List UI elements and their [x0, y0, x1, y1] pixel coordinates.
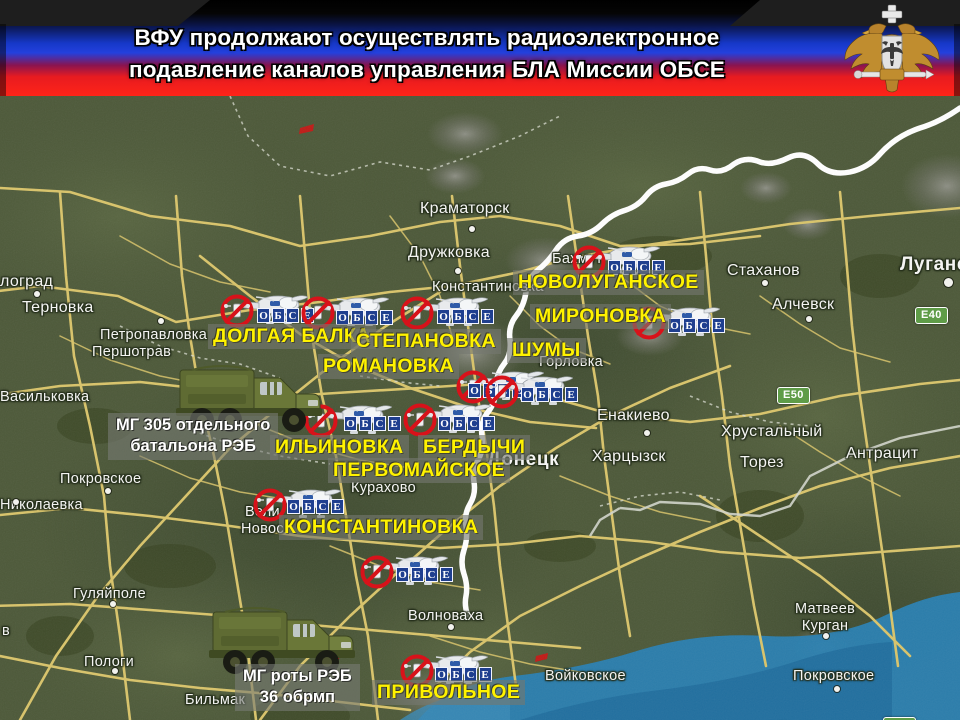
osce-chip-letter: Е: [331, 499, 344, 514]
city-label: Пологи: [84, 654, 134, 670]
city-label: Луганск: [900, 254, 960, 276]
osce-chip-letter: Е: [712, 318, 725, 333]
osce-logo-chip: ОБСЕ: [287, 499, 344, 514]
osce-chip-letter: Б: [302, 499, 315, 514]
osce-chip-letter: Б: [453, 416, 466, 431]
russian-national-guard-eagle-emblem: [838, 2, 946, 96]
highlighted-settlement-label: НОВОЛУГАНСКОЕ: [513, 270, 704, 295]
city-marker-dot: [34, 291, 40, 297]
highlighted-settlement-label: МИРОНОВКА: [530, 304, 671, 329]
city-label: Терновка: [22, 299, 94, 317]
osce-logo-chip: ОБСЕ: [668, 318, 725, 333]
osce-chip-letter: Б: [452, 309, 465, 324]
osce-chip-letter: С: [425, 567, 438, 582]
city-label: Краматорск: [420, 200, 510, 218]
city-label: Петропавловка: [100, 327, 207, 343]
osce-logo-chip: ОБСЕ: [438, 416, 495, 431]
osce-logo-chip: ОБСЕ: [521, 387, 578, 402]
osce-chip-letter: О: [344, 416, 357, 431]
road-shield-e50: E50: [777, 387, 810, 404]
osce-chip-letter: Б: [359, 416, 372, 431]
highlighted-settlement-label: РОМАНОВКА: [318, 354, 459, 379]
city-label: Покровское: [60, 471, 141, 487]
osce-chip-letter: О: [287, 499, 300, 514]
city-label: Харцызск: [592, 448, 666, 466]
osce-chip-letter: Е: [440, 567, 453, 582]
banner-title: ВФУ продолжают осуществлять радиоэлектро…: [42, 22, 812, 86]
city-label: Алчевск: [772, 296, 834, 314]
osce-chip-letter: Е: [482, 416, 495, 431]
osce-chip-letter: Б: [411, 567, 424, 582]
city-marker-dot: [13, 499, 19, 505]
highlighted-settlement-label: СТЕПАНОВКА: [351, 329, 501, 354]
highlighted-settlement-label: КОНСТАНТИНОВКА: [279, 515, 483, 540]
city-label: Антрацит: [846, 445, 918, 463]
highlighted-settlement-label: ШУМЫ: [507, 338, 586, 363]
osce-logo-chip: ОБСЕ: [336, 310, 393, 325]
osce-chip-letter: Е: [380, 310, 393, 325]
city-marker-dot: [105, 488, 111, 494]
city-label: Першотрав: [92, 344, 171, 360]
osce-chip-letter: О: [396, 567, 409, 582]
city-marker-dot: [112, 668, 118, 674]
osce-chip-letter: О: [468, 383, 481, 398]
city-marker-dot: [158, 318, 164, 324]
city-marker-dot: [823, 633, 829, 639]
ew-truck-upper-label: МГ 305 отдельного батальона РЭБ: [108, 413, 278, 460]
osce-chip-letter: С: [466, 309, 479, 324]
osce-chip-letter: С: [373, 416, 386, 431]
osce-chip-letter: С: [697, 318, 710, 333]
osce-chip-letter: С: [467, 416, 480, 431]
highlighted-settlement-label: ПЕРВОМАЙСКОЕ: [328, 458, 510, 483]
ew-truck-lower-label: МГ роты РЭБ 36 обрмп: [235, 664, 360, 711]
osce-chip-letter: С: [550, 387, 563, 402]
osce-logo-chip: ОБСЕ: [396, 567, 453, 582]
city-marker-dot: [762, 280, 768, 286]
highlighted-settlement-label: ПРИВОЛЬНОЕ: [372, 680, 525, 705]
osce-logo-chip: ОБСЕ: [437, 309, 494, 324]
city-marker-dot: [455, 268, 461, 274]
banner-edge-right: [954, 24, 960, 96]
osce-logo-chip: ОБСЕ: [344, 416, 401, 431]
osce-chip-letter: О: [336, 310, 349, 325]
city-label: Енакиево: [597, 407, 670, 425]
city-marker-dot: [944, 278, 953, 287]
osce-chip-letter: С: [365, 310, 378, 325]
city-marker-dot: [448, 624, 454, 630]
city-label: Хрустальный: [721, 423, 823, 441]
highlighted-settlement-label: ИЛЬИНОВКА: [270, 435, 409, 460]
road-shield-e40: E40: [915, 307, 948, 324]
osce-chip-letter: О: [257, 308, 270, 323]
osce-chip-letter: С: [286, 308, 299, 323]
highlighted-settlement-label: БЕРДЫЧИ: [418, 435, 530, 460]
satellite-map[interactable]: КраматорскДружковкаКонстантиновкаБахмутГ…: [0, 96, 960, 720]
city-label: Волноваха: [408, 608, 483, 624]
osce-chip-letter: О: [521, 387, 534, 402]
osce-chip-letter: Е: [481, 309, 494, 324]
header-banner: ВФУ продолжают осуществлять радиоэлектро…: [0, 0, 960, 96]
city-marker-dot: [806, 316, 812, 322]
city-label: Николаевка: [0, 497, 83, 513]
city-label: Войковское: [545, 668, 626, 684]
city-marker-dot: [644, 430, 650, 436]
city-label: Торез: [740, 454, 784, 472]
osce-chip-letter: Е: [565, 387, 578, 402]
screenshot-root: ВФУ продолжают осуществлять радиоэлектро…: [0, 0, 960, 720]
osce-chip-letter: Б: [272, 308, 285, 323]
osce-chip-letter: Б: [683, 318, 696, 333]
osce-chip-letter: Б: [351, 310, 364, 325]
city-label: Васильковка: [0, 389, 89, 405]
city-marker-dot: [834, 686, 840, 692]
osce-chip-letter: О: [437, 309, 450, 324]
osce-chip-letter: О: [438, 416, 451, 431]
osce-chip-letter: Б: [536, 387, 549, 402]
osce-chip-letter: Е: [388, 416, 401, 431]
city-label: Дружковка: [408, 244, 490, 262]
city-marker-dot: [469, 226, 475, 232]
city-label: Матвеев Курган: [795, 601, 855, 635]
city-label: Стаханов: [727, 262, 800, 280]
city-label: лоград: [0, 273, 53, 291]
osce-chip-letter: С: [316, 499, 329, 514]
banner-edge-left: [0, 24, 6, 96]
city-label: Покровское: [793, 668, 874, 684]
city-label: в: [2, 623, 10, 639]
city-label: Гуляйполе: [73, 586, 146, 602]
drone-prohibition-icon: [360, 555, 394, 594]
city-marker-dot: [110, 601, 116, 607]
